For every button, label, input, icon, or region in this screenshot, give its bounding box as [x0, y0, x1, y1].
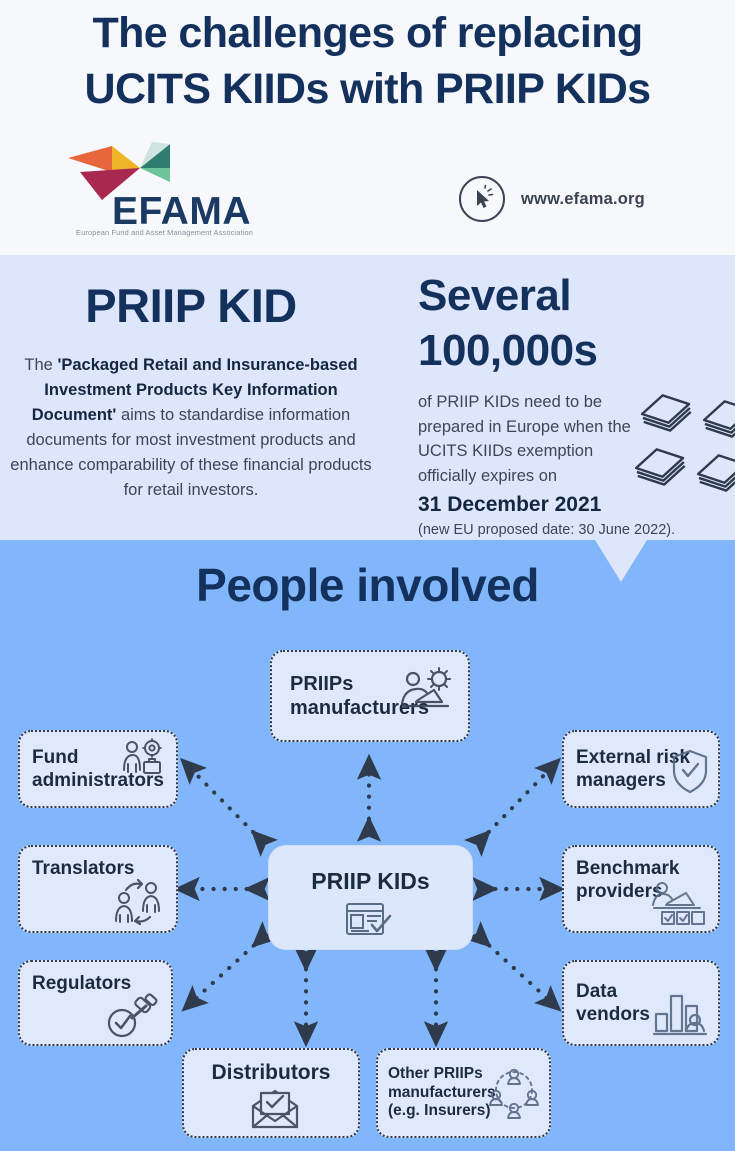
arrow-center-to-fund-administrators: [190, 768, 261, 840]
title-line-1: The challenges of replacing: [0, 5, 735, 61]
envelope-check-icon: [250, 1088, 300, 1130]
diagram-title: People involved: [0, 558, 735, 612]
bar-chart-person-icon: [652, 990, 708, 1038]
website-url[interactable]: www.efama.org: [521, 190, 645, 209]
node-external-risk-managers[interactable]: External risk managers: [562, 730, 720, 808]
efama-tagline: European Fund and Asset Management Assoc…: [76, 228, 253, 237]
node-distributors-label: Distributors: [211, 1060, 330, 1086]
priip-kid-definition: PRIIP KID The 'Packaged Retail and Insur…: [0, 255, 390, 503]
person-laptop-checklist-icon: [648, 881, 710, 927]
node-translators-label: Translators: [32, 857, 134, 880]
arrow-center-to-regulators: [192, 938, 262, 1002]
two-people-exchange-icon: [112, 879, 164, 925]
body-prefix: The: [24, 356, 57, 374]
node-data-vendors[interactable]: Data vendors: [562, 960, 720, 1046]
efama-logo: EFAMA European Fund and Asset Management…: [60, 138, 290, 238]
node-fund-administrators[interactable]: Fund administrators: [18, 730, 178, 808]
page-title: The challenges of replacing UCITS KIIDs …: [0, 5, 735, 117]
person-gear-briefcase-icon: [120, 738, 168, 780]
node-other-priips-manufacturers-label: Other PRIIPs manufacturers (e.g. Insurer…: [388, 1065, 496, 1122]
arrow-center-to-external-risk-managers: [481, 768, 551, 840]
big-number-line-1: Several: [418, 268, 735, 323]
node-data-vendors-label: Data vendors: [576, 980, 650, 1026]
node-distributors[interactable]: Distributors: [182, 1048, 360, 1138]
middle-section: PRIIP KID The 'Packaged Retail and Insur…: [0, 255, 735, 540]
statistic-body: of PRIIP KIDs need to be prepared in Eur…: [418, 390, 646, 488]
big-number-line-2: 100,000s: [418, 323, 735, 378]
title-line-2: UCITS KIIDs with PRIIP KIDs: [0, 61, 735, 117]
infographic-poster: The challenges of replacing UCITS KIIDs …: [0, 0, 735, 1151]
person-laptop-gear-icon: [394, 666, 456, 718]
website-block[interactable]: www.efama.org: [459, 176, 645, 222]
node-regulators-label: Regulators: [32, 972, 131, 995]
priip-kid-heading: PRIIP KID: [0, 278, 390, 333]
node-priip-kids-center[interactable]: PRIIP KIDs: [268, 845, 473, 950]
big-number: Several 100,000s: [418, 268, 735, 378]
expiry-date: 31 December 2021: [418, 493, 735, 517]
cursor-click-icon: [459, 176, 505, 222]
node-benchmark-providers[interactable]: Benchmark providers: [562, 845, 720, 933]
gavel-check-icon: [105, 994, 161, 1040]
node-other-priips-manufacturers[interactable]: Other PRIIPs manufacturers (e.g. Insurer…: [376, 1048, 551, 1138]
priip-kid-body: The 'Packaged Retail and Insurance-based…: [0, 353, 390, 503]
node-priips-manufacturers[interactable]: PRIIPs manufacturers: [270, 650, 470, 742]
volume-statistic: Several 100,000s of PRIIP KIDs need to b…: [418, 255, 735, 538]
proposed-date-note: (new EU proposed date: 30 June 2022).: [418, 522, 735, 538]
node-priip-kids-label: PRIIP KIDs: [311, 868, 429, 895]
stacked-papers-icon: [636, 383, 735, 495]
shield-check-icon: [670, 748, 710, 796]
document-checklist-icon: [345, 901, 397, 941]
node-translators[interactable]: Translators: [18, 845, 178, 933]
arrow-center-to-data-vendors: [481, 938, 551, 1002]
people-network-icon: [485, 1066, 543, 1118]
diagram-section: People involved: [0, 540, 735, 1151]
node-regulators[interactable]: Regulators: [18, 960, 173, 1046]
header-section: The challenges of replacing UCITS KIIDs …: [0, 0, 735, 255]
